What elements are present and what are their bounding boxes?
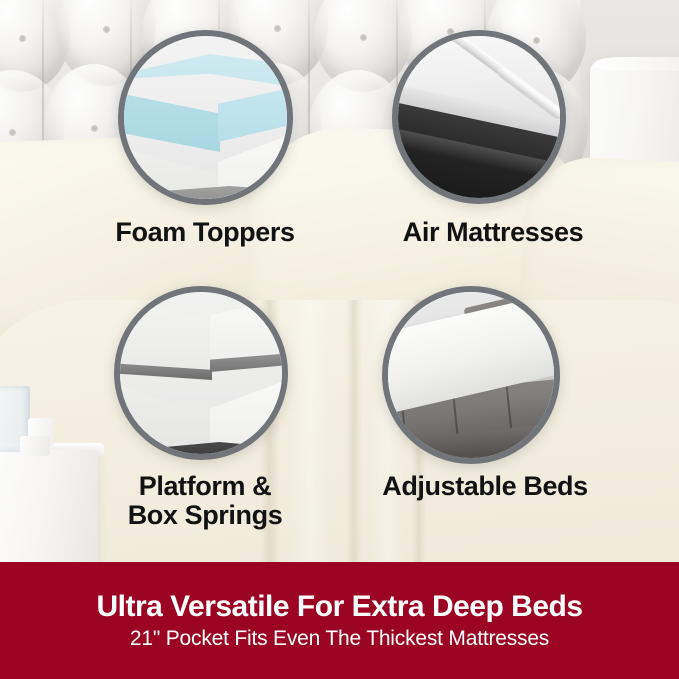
banner-subheadline: 21" Pocket Fits Even The Thickest Mattre…	[130, 627, 549, 650]
callout-label-foam-toppers: Foam Toppers	[60, 218, 350, 247]
banner-headline: Ultra Versatile For Extra Deep Beds	[96, 591, 582, 623]
infographic-canvas: Foam Toppers Air Mattresses	[0, 0, 679, 679]
jar-small-lower	[20, 436, 50, 456]
promo-banner: Ultra Versatile For Extra Deep Beds 21" …	[0, 562, 679, 679]
callout-image-adjustable-beds	[382, 286, 560, 464]
callout-label-air-mattresses: Air Mattresses	[348, 218, 638, 247]
callout-image-platform-box-springs	[114, 286, 288, 460]
callout-image-air-mattresses	[392, 30, 566, 204]
callout-label-platform-box-springs: Platform & Box Springs	[60, 472, 350, 530]
callout-image-foam-toppers	[118, 30, 293, 205]
callout-label-adjustable-beds: Adjustable Beds	[340, 472, 630, 501]
